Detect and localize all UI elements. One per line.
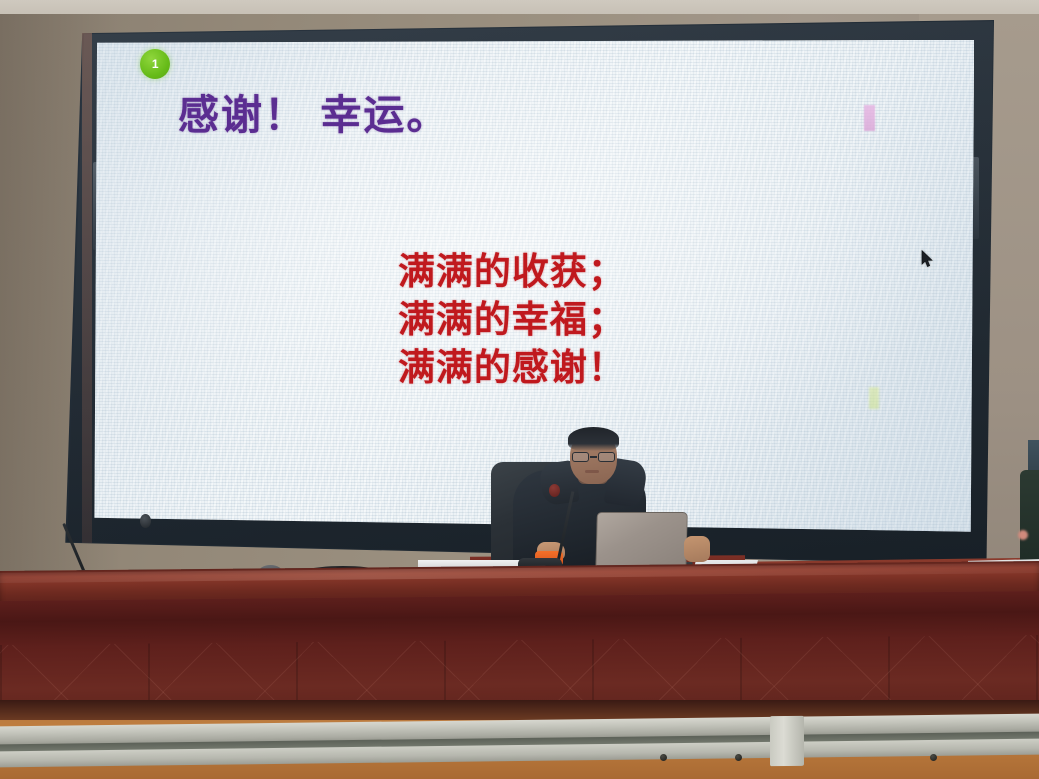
rail-screw bbox=[930, 754, 937, 761]
eyeglasses-bridge bbox=[590, 456, 597, 458]
slide-body-text: 满满的收获； 满满的幸福； 满满的感谢！ bbox=[398, 248, 626, 392]
rail-screw bbox=[735, 754, 742, 761]
eyeglasses-lens-right bbox=[598, 452, 615, 462]
slide-body-line-3: 满满的感谢！ bbox=[398, 344, 626, 392]
eyeglasses-lens-left bbox=[572, 452, 589, 462]
screen-bezel-left-edge bbox=[82, 33, 91, 543]
rail-screw bbox=[660, 754, 667, 761]
bottom-rail-area bbox=[0, 700, 1039, 779]
pink-block-artifact bbox=[864, 105, 875, 131]
mouse-pointer-icon bbox=[921, 250, 934, 268]
presenter-hand-right bbox=[684, 536, 710, 562]
conference-room-scene: 1 感谢！ 幸运。 满满的收获； 满满的幸福； 满满的感谢！ bbox=[0, 0, 1039, 779]
left-microphone-head bbox=[140, 514, 151, 528]
eyeglasses-icon bbox=[571, 452, 616, 462]
right-side-accent bbox=[1018, 530, 1028, 540]
presenter-mouth bbox=[585, 470, 599, 473]
slide-number-badge: 1 bbox=[140, 49, 170, 79]
presenter-hair bbox=[568, 427, 619, 451]
slide-body-line-2: 满满的幸福； bbox=[398, 296, 626, 344]
presenter-microphone-head bbox=[549, 484, 560, 497]
slide-title: 感谢！ 幸运。 bbox=[178, 81, 449, 141]
slide-body-line-1: 满满的收获； bbox=[398, 248, 626, 296]
rail-clip-bracket bbox=[770, 716, 804, 766]
lime-block-artifact bbox=[869, 387, 879, 409]
